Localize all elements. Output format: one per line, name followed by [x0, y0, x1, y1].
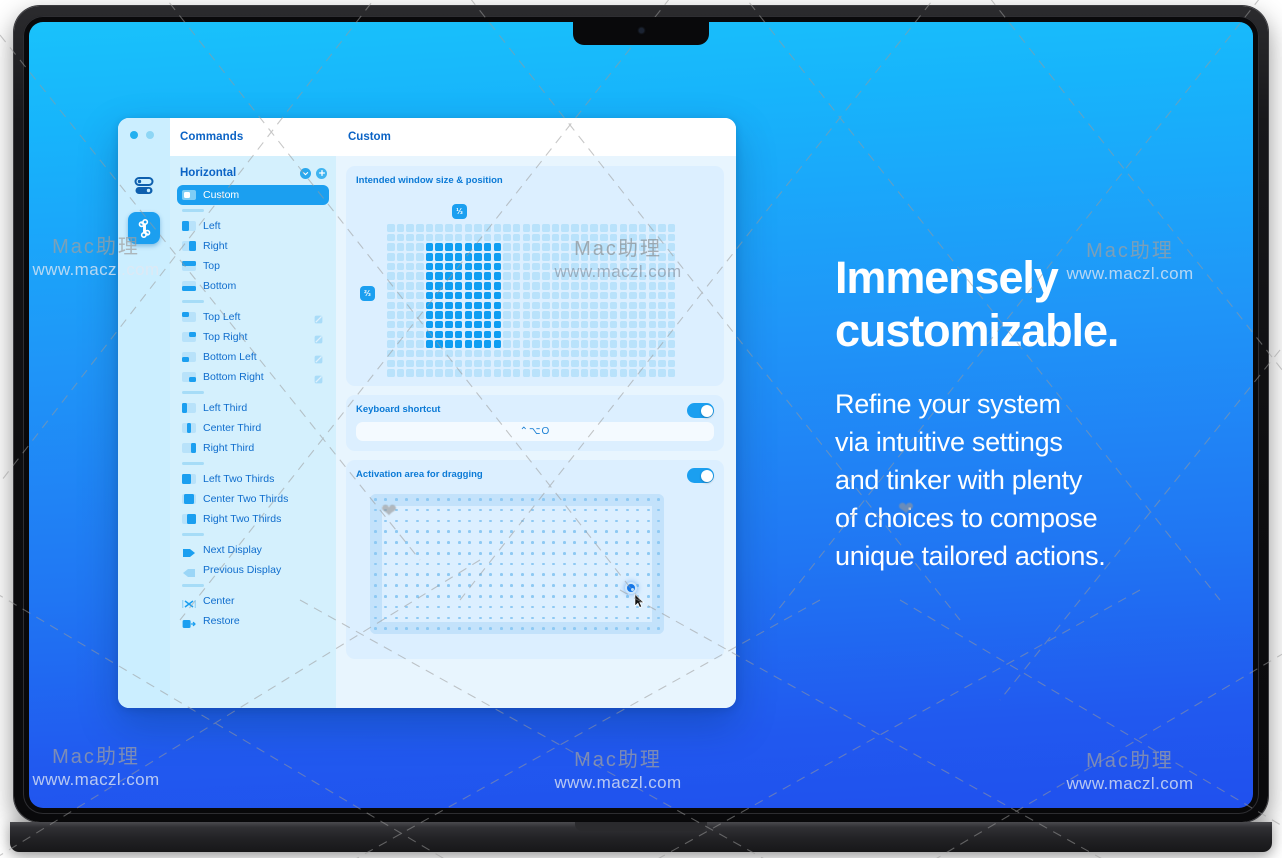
grid-cell[interactable] [571, 253, 579, 261]
grid-cell[interactable] [639, 224, 647, 232]
activation-dot[interactable] [521, 573, 524, 576]
grid-cell[interactable] [435, 369, 443, 377]
grid-cell[interactable] [523, 243, 531, 251]
activation-dot[interactable] [416, 541, 419, 544]
grid-cell[interactable] [552, 340, 560, 348]
grid-cell-selected[interactable] [435, 311, 443, 319]
grid-cell-selected[interactable] [484, 340, 492, 348]
activation-dot[interactable] [374, 498, 377, 501]
grid-cell[interactable] [581, 282, 589, 290]
grid-cell[interactable] [629, 234, 637, 242]
grid-cell[interactable] [426, 360, 434, 368]
sidebar-item-right-third[interactable]: Right Third [177, 438, 329, 458]
grid-cell[interactable] [513, 234, 521, 242]
activation-dot[interactable] [563, 530, 566, 533]
activation-dot[interactable] [521, 563, 524, 566]
activation-dot-area[interactable] [370, 494, 664, 634]
activation-dot[interactable] [374, 595, 377, 598]
grid-cell[interactable] [668, 253, 676, 261]
grid-cell[interactable] [561, 311, 569, 319]
grid-cell[interactable] [620, 360, 628, 368]
grid-cell-selected[interactable] [435, 321, 443, 329]
activation-dot[interactable] [647, 584, 650, 587]
grid-cell-selected[interactable] [474, 340, 482, 348]
grid-cell-selected[interactable] [494, 253, 502, 261]
grid-cell[interactable] [416, 369, 424, 377]
grid-cell[interactable] [523, 292, 531, 300]
grid-cell[interactable] [571, 331, 579, 339]
activation-dot[interactable] [605, 627, 608, 630]
grid-cell-selected[interactable] [474, 282, 482, 290]
activation-dot[interactable] [458, 584, 461, 587]
grid-cell-selected[interactable] [426, 331, 434, 339]
activation-dot[interactable] [447, 606, 450, 609]
activation-dot[interactable] [573, 563, 576, 566]
grid-cell[interactable] [397, 331, 405, 339]
activation-dot[interactable] [563, 498, 566, 501]
grid-cell[interactable] [397, 369, 405, 377]
activation-dot[interactable] [479, 563, 482, 566]
activation-dot[interactable] [447, 530, 450, 533]
grid-cell[interactable] [542, 234, 550, 242]
grid-cell[interactable] [494, 360, 502, 368]
activation-dot[interactable] [384, 552, 387, 555]
grid-cell-selected[interactable] [484, 292, 492, 300]
activation-dot[interactable] [552, 584, 555, 587]
activation-dot[interactable] [510, 552, 513, 555]
activation-dot[interactable] [395, 541, 398, 544]
grid-cell[interactable] [474, 360, 482, 368]
grid-cell-selected[interactable] [474, 302, 482, 310]
grid-cell[interactable] [532, 224, 540, 232]
activation-dot[interactable] [531, 617, 534, 620]
grid-cell[interactable] [590, 360, 598, 368]
grid-cell[interactable] [610, 234, 618, 242]
activation-dot[interactable] [626, 627, 629, 630]
grid-cell[interactable] [523, 234, 531, 242]
grid-cell[interactable] [416, 224, 424, 232]
grid-cell[interactable] [397, 234, 405, 242]
activation-dot[interactable] [626, 541, 629, 544]
activation-dot[interactable] [489, 520, 492, 523]
activation-dot[interactable] [510, 573, 513, 576]
activation-dot[interactable] [552, 617, 555, 620]
grid-cell-selected[interactable] [445, 272, 453, 280]
grid-cell[interactable] [406, 350, 414, 358]
activation-dot[interactable] [405, 530, 408, 533]
activation-dot[interactable] [563, 606, 566, 609]
activation-dot[interactable] [615, 563, 618, 566]
grid-cell[interactable] [542, 369, 550, 377]
grid-cell[interactable] [620, 331, 628, 339]
activation-dot[interactable] [416, 530, 419, 533]
activation-dot[interactable] [500, 552, 503, 555]
activation-dot[interactable] [594, 509, 597, 512]
activation-dot[interactable] [447, 573, 450, 576]
grid-cell[interactable] [571, 350, 579, 358]
activation-dot[interactable] [426, 617, 429, 620]
grid-cell[interactable] [581, 311, 589, 319]
grid-cell-selected[interactable] [474, 321, 482, 329]
activation-dot[interactable] [657, 627, 660, 630]
grid-cell-selected[interactable] [435, 282, 443, 290]
grid-cell[interactable] [571, 263, 579, 271]
activation-dot[interactable] [542, 520, 545, 523]
grid-cell[interactable] [581, 234, 589, 242]
sidebar-item-previous-display[interactable]: Previous Display [177, 560, 329, 580]
activation-dot[interactable] [384, 606, 387, 609]
activation-dot[interactable] [657, 498, 660, 501]
grid-cell[interactable] [629, 272, 637, 280]
activation-dot[interactable] [531, 509, 534, 512]
toggles-icon[interactable] [128, 170, 160, 202]
grid-cell[interactable] [426, 224, 434, 232]
grid-cell-selected[interactable] [465, 272, 473, 280]
grid-cell[interactable] [561, 350, 569, 358]
grid-cell[interactable] [620, 282, 628, 290]
activation-dot[interactable] [416, 617, 419, 620]
grid-cell[interactable] [600, 263, 608, 271]
activation-dot[interactable] [489, 530, 492, 533]
grid-cell-selected[interactable] [445, 321, 453, 329]
activation-dot[interactable] [479, 606, 482, 609]
activation-dot[interactable] [573, 498, 576, 501]
activation-dot[interactable] [573, 584, 576, 587]
grid-cell[interactable] [629, 350, 637, 358]
grid-cell[interactable] [397, 282, 405, 290]
activation-dot[interactable] [626, 552, 629, 555]
activation-dot[interactable] [510, 520, 513, 523]
activation-dot[interactable] [563, 573, 566, 576]
grid-cell[interactable] [600, 321, 608, 329]
grid-cell[interactable] [406, 369, 414, 377]
activation-dot[interactable] [615, 573, 618, 576]
activation-dot[interactable] [447, 509, 450, 512]
grid-cell[interactable] [668, 263, 676, 271]
activation-dot[interactable] [636, 563, 639, 566]
activation-dot[interactable] [542, 563, 545, 566]
activation-dot[interactable] [405, 509, 408, 512]
grid-cell[interactable] [600, 243, 608, 251]
grid-cell[interactable] [503, 234, 511, 242]
activation-dot[interactable] [405, 627, 408, 630]
activation-dot[interactable] [594, 595, 597, 598]
sidebar-item-restore[interactable]: Restore [177, 611, 329, 631]
activation-dot[interactable] [657, 530, 660, 533]
grid-cell[interactable] [649, 350, 657, 358]
grid-cell[interactable] [668, 224, 676, 232]
grid-cell[interactable] [590, 272, 598, 280]
grid-cell[interactable] [387, 340, 395, 348]
activation-dot[interactable] [479, 541, 482, 544]
grid-cell[interactable] [600, 369, 608, 377]
grid-cell-selected[interactable] [494, 340, 502, 348]
activation-dot[interactable] [489, 541, 492, 544]
grid-cell[interactable] [649, 243, 657, 251]
grid-cell[interactable] [581, 369, 589, 377]
grid-cell-selected[interactable] [426, 253, 434, 261]
grid-cell[interactable] [658, 292, 666, 300]
activation-dot[interactable] [437, 573, 440, 576]
grid-cell[interactable] [416, 292, 424, 300]
grid-cell[interactable] [600, 253, 608, 261]
activation-dot[interactable] [426, 541, 429, 544]
grid-cell[interactable] [523, 311, 531, 319]
activation-dot[interactable] [395, 573, 398, 576]
activation-dot[interactable] [521, 541, 524, 544]
grid-cell[interactable] [542, 340, 550, 348]
activation-dot[interactable] [636, 541, 639, 544]
grid-cell[interactable] [658, 331, 666, 339]
grid-cell[interactable] [639, 243, 647, 251]
grid-cell-selected[interactable] [484, 253, 492, 261]
activation-dot[interactable] [447, 520, 450, 523]
activation-dot[interactable] [542, 509, 545, 512]
grid-cell[interactable] [668, 321, 676, 329]
grid-cell[interactable] [590, 331, 598, 339]
grid-cell[interactable] [474, 369, 482, 377]
activation-dot[interactable] [374, 530, 377, 533]
grid-cell[interactable] [542, 321, 550, 329]
activation-dot[interactable] [605, 584, 608, 587]
grid-cell[interactable] [387, 253, 395, 261]
activation-dot[interactable] [458, 606, 461, 609]
grid-cell[interactable] [571, 311, 579, 319]
grid-cell[interactable] [542, 272, 550, 280]
activation-dot[interactable] [636, 617, 639, 620]
activation-dot[interactable] [657, 606, 660, 609]
grid-cell[interactable] [610, 243, 618, 251]
grid-cell[interactable] [610, 350, 618, 358]
activation-dot[interactable] [479, 617, 482, 620]
grid-cell[interactable] [590, 224, 598, 232]
activation-dot[interactable] [521, 606, 524, 609]
activation-dot[interactable] [468, 617, 471, 620]
grid-cell-selected[interactable] [484, 331, 492, 339]
grid-cell[interactable] [600, 234, 608, 242]
grid-cell-selected[interactable] [445, 243, 453, 251]
activation-dot[interactable] [416, 573, 419, 576]
grid-cell[interactable] [620, 369, 628, 377]
activation-dot[interactable] [489, 595, 492, 598]
activation-dot[interactable] [405, 541, 408, 544]
grid-cell[interactable] [523, 360, 531, 368]
grid-cell[interactable] [668, 350, 676, 358]
grid-cell-selected[interactable] [455, 282, 463, 290]
sidebar-item-right[interactable]: Right [177, 236, 329, 256]
grid-cell-selected[interactable] [484, 282, 492, 290]
activation-dot[interactable] [594, 530, 597, 533]
activation-dot[interactable] [542, 595, 545, 598]
grid-cell[interactable] [523, 224, 531, 232]
activation-dot[interactable] [405, 573, 408, 576]
grid-cell[interactable] [406, 321, 414, 329]
grid-cell-selected[interactable] [484, 263, 492, 271]
grid-cell[interactable] [513, 350, 521, 358]
activation-dot[interactable] [374, 584, 377, 587]
grid-cell[interactable] [658, 321, 666, 329]
grid-cell[interactable] [620, 224, 628, 232]
activation-dot[interactable] [657, 595, 660, 598]
activation-dot[interactable] [605, 530, 608, 533]
sidebar-item-next-display[interactable]: Next Display [177, 540, 329, 560]
activation-dot[interactable] [563, 595, 566, 598]
grid-cell[interactable] [435, 224, 443, 232]
activation-dot[interactable] [374, 563, 377, 566]
grid-cell-selected[interactable] [426, 311, 434, 319]
activation-dot[interactable] [447, 595, 450, 598]
grid-cell[interactable] [494, 224, 502, 232]
grid-cell[interactable] [397, 263, 405, 271]
grid-cell[interactable] [513, 282, 521, 290]
grid-cell[interactable] [620, 243, 628, 251]
activation-dot[interactable] [584, 530, 587, 533]
activation-dot[interactable] [489, 552, 492, 555]
activation-dot[interactable] [636, 530, 639, 533]
activation-dot[interactable] [615, 530, 618, 533]
grid-cell[interactable] [455, 224, 463, 232]
grid-cell[interactable] [629, 340, 637, 348]
grid-cell[interactable] [600, 331, 608, 339]
grid-cell[interactable] [513, 292, 521, 300]
grid-cell[interactable] [416, 321, 424, 329]
grid-cell[interactable] [590, 340, 598, 348]
activation-dot[interactable] [626, 617, 629, 620]
grid-cell[interactable] [397, 302, 405, 310]
grid-cell[interactable] [406, 243, 414, 251]
activation-dot[interactable] [584, 498, 587, 501]
grid-cell-selected[interactable] [465, 321, 473, 329]
activation-dot[interactable] [458, 530, 461, 533]
grid-cell[interactable] [387, 369, 395, 377]
activation-dot[interactable] [521, 530, 524, 533]
grid-cell[interactable] [571, 243, 579, 251]
grid-cell[interactable] [561, 340, 569, 348]
grid-cell[interactable] [668, 311, 676, 319]
activation-dot[interactable] [552, 541, 555, 544]
grid-cell[interactable] [571, 292, 579, 300]
grid-cell[interactable] [649, 360, 657, 368]
activation-dot[interactable] [563, 617, 566, 620]
grid-cell[interactable] [387, 360, 395, 368]
grid-cell[interactable] [455, 369, 463, 377]
grid-cell[interactable] [513, 263, 521, 271]
grid-cell[interactable] [503, 263, 511, 271]
activation-dot[interactable] [437, 552, 440, 555]
activation-dot[interactable] [521, 617, 524, 620]
grid-cell[interactable] [406, 311, 414, 319]
grid-cell[interactable] [542, 263, 550, 271]
grid-cell[interactable] [561, 369, 569, 377]
grid-cell[interactable] [484, 224, 492, 232]
activation-dot[interactable] [500, 584, 503, 587]
activation-dot[interactable] [542, 498, 545, 501]
grid-cell[interactable] [600, 360, 608, 368]
activation-dot[interactable] [573, 627, 576, 630]
activation-dot[interactable] [426, 498, 429, 501]
grid-cell[interactable] [668, 282, 676, 290]
activation-dot[interactable] [594, 606, 597, 609]
grid-cell[interactable] [571, 272, 579, 280]
activation-dot[interactable] [657, 520, 660, 523]
activation-dot[interactable] [573, 552, 576, 555]
activation-dot[interactable] [447, 541, 450, 544]
grid-cell-selected[interactable] [445, 263, 453, 271]
activation-dot[interactable] [500, 573, 503, 576]
grid-cell-selected[interactable] [474, 272, 482, 280]
grid-cell[interactable] [494, 369, 502, 377]
grid-cell[interactable] [561, 292, 569, 300]
grid-cell[interactable] [658, 369, 666, 377]
grid-cell[interactable] [571, 234, 579, 242]
activation-dot[interactable] [384, 584, 387, 587]
grid-cell[interactable] [406, 253, 414, 261]
grid-cell-selected[interactable] [494, 263, 502, 271]
activation-dot[interactable] [426, 595, 429, 598]
grid-cell[interactable] [590, 350, 598, 358]
grid-cell[interactable] [406, 331, 414, 339]
grid-cell[interactable] [590, 311, 598, 319]
grid-cell[interactable] [406, 263, 414, 271]
grid-cell[interactable] [513, 224, 521, 232]
grid-cell[interactable] [590, 321, 598, 329]
grid-cell[interactable] [552, 263, 560, 271]
grid-cell-selected[interactable] [494, 311, 502, 319]
activation-dot[interactable] [615, 520, 618, 523]
grid-cell-selected[interactable] [455, 302, 463, 310]
grid-cell[interactable] [639, 340, 647, 348]
grid-cell[interactable] [542, 360, 550, 368]
activation-dot[interactable] [458, 617, 461, 620]
grid-cell[interactable] [629, 292, 637, 300]
grid-cell[interactable] [668, 243, 676, 251]
activation-dot[interactable] [552, 498, 555, 501]
grid-cell[interactable] [484, 369, 492, 377]
grid-cell[interactable] [629, 263, 637, 271]
activation-dot[interactable] [416, 498, 419, 501]
grid-cell[interactable] [387, 263, 395, 271]
activation-dot[interactable] [615, 552, 618, 555]
command-icon[interactable] [128, 212, 160, 244]
grid-cell[interactable] [532, 311, 540, 319]
grid-cell[interactable] [658, 224, 666, 232]
activation-dot[interactable] [521, 627, 524, 630]
activation-dot[interactable] [563, 552, 566, 555]
activation-dot[interactable] [552, 520, 555, 523]
grid-cell[interactable] [426, 369, 434, 377]
activation-dot[interactable] [458, 498, 461, 501]
grid-cell-selected[interactable] [435, 253, 443, 261]
grid-cell[interactable] [649, 282, 657, 290]
activation-dot[interactable] [374, 606, 377, 609]
activation-dot[interactable] [563, 520, 566, 523]
activation-dot[interactable] [563, 563, 566, 566]
activation-dot[interactable] [468, 498, 471, 501]
activation-dot[interactable] [416, 627, 419, 630]
activation-dot[interactable] [479, 595, 482, 598]
activation-dot[interactable] [510, 509, 513, 512]
grid-cell[interactable] [571, 302, 579, 310]
grid-cell[interactable] [639, 350, 647, 358]
activation-dot[interactable] [584, 617, 587, 620]
grid-cell[interactable] [649, 369, 657, 377]
activation-dot[interactable] [437, 520, 440, 523]
activation-dot[interactable] [542, 606, 545, 609]
activation-dot[interactable] [647, 541, 650, 544]
activation-dot[interactable] [594, 573, 597, 576]
activation-dot[interactable] [489, 563, 492, 566]
activation-dot[interactable] [395, 617, 398, 620]
